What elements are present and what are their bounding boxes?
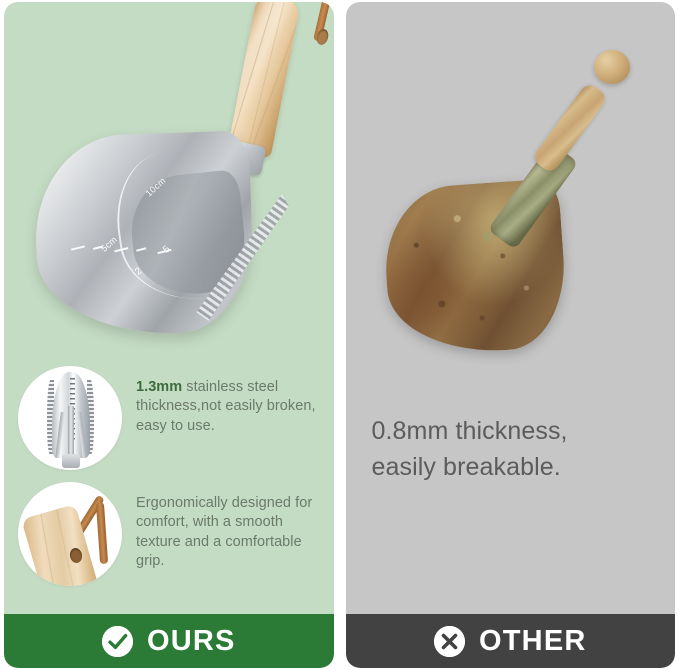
x-circle-icon	[434, 626, 465, 657]
other-caption-line-1: 0.8mm thickness,	[372, 414, 650, 450]
ours-verdict-banner: OURS	[4, 614, 334, 668]
check-circle-icon	[102, 626, 133, 657]
steel-blade	[33, 130, 256, 337]
other-verdict-label: OTHER	[479, 627, 587, 656]
ours-hero-image: 10cm 5cm 2 5	[4, 2, 334, 367]
feature-row: Ergonomically designed for comfort, with…	[18, 482, 320, 586]
other-panel: 0.8mm thickness, easily breakable. OTHER	[346, 2, 676, 668]
feature-highlight: 1.3mm	[136, 379, 182, 395]
handle-knob	[594, 50, 630, 84]
thumb-wooden-handle	[18, 482, 122, 586]
feature-text: Ergonomically designed for comfort, with…	[136, 482, 320, 572]
ours-feature-list: 1.3mm stainless steel thickness,not easi…	[4, 366, 334, 598]
other-caption: 0.8mm thickness, easily breakable.	[346, 414, 676, 485]
ours-panel: 10cm 5cm 2 5 1.3mm stainl	[4, 2, 334, 668]
ours-verdict-label: OURS	[147, 627, 236, 656]
thumb-ferrule-icon	[62, 454, 80, 468]
rusty-trowel-illustration	[376, 32, 656, 362]
stainless-trowel-illustration: 10cm 5cm 2 5	[28, 2, 328, 366]
feature-body: Ergonomically designed for comfort, with…	[136, 495, 312, 569]
feature-text: 1.3mm stainless steel thickness,not easi…	[136, 366, 320, 436]
other-hero-image	[346, 2, 676, 402]
blade-center-rib	[68, 406, 74, 458]
strap-icon	[96, 502, 108, 564]
other-verdict-banner: OTHER	[346, 614, 676, 668]
thumb-serrated-blade-front	[18, 366, 122, 470]
other-caption-line-2: easily breakable.	[372, 450, 650, 486]
product-comparison: 10cm 5cm 2 5 1.3mm stainl	[0, 0, 679, 670]
feature-row: 1.3mm stainless steel thickness,not easi…	[18, 366, 320, 470]
